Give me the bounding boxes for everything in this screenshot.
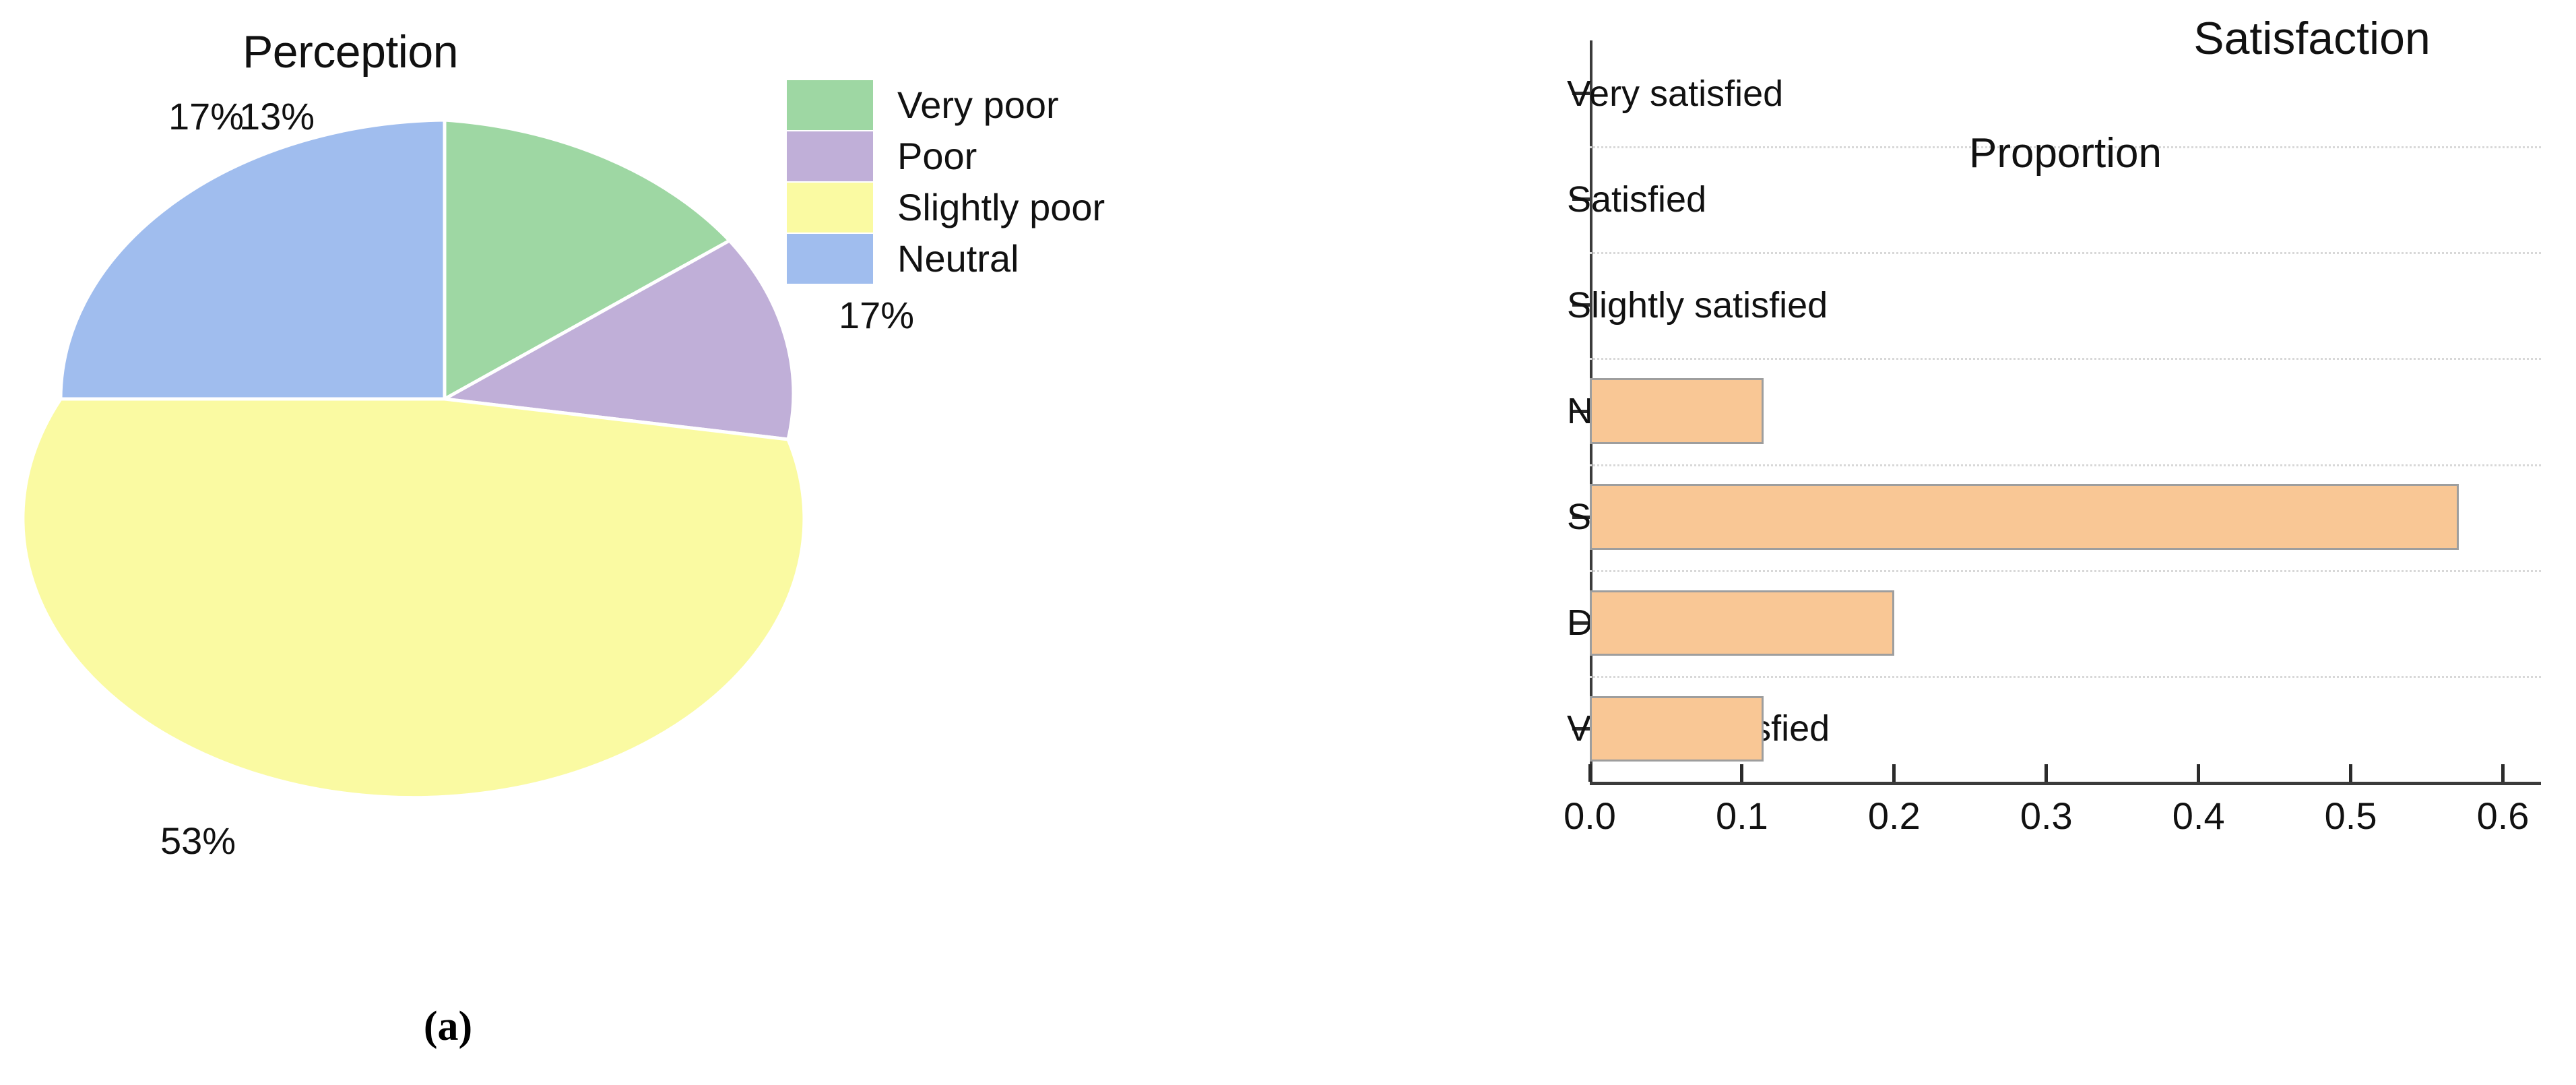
pie-slice-neutral (61, 120, 445, 399)
legend-label-slightly-poor: Slightly poor (897, 189, 1105, 226)
x-axis-title: Proportion (1590, 129, 2541, 177)
x-tick-0 (1588, 764, 1592, 782)
bar-dissatisfied (1590, 590, 1894, 656)
gridline-1 (1590, 252, 2541, 254)
x-axis-tick-label-0.0: 0.0 (1564, 794, 1616, 838)
subfigure-caption-a: (a) (381, 1003, 515, 1051)
x-tick-5 (2349, 764, 2352, 782)
pie-chart-legend: Very poor Poor Slightly poor Neutral (787, 80, 1105, 284)
pie-chart-panel: Perception (0, 0, 1288, 1085)
pie-slice-slightly-poor (23, 399, 804, 798)
legend-swatch-slightly-poor (787, 183, 873, 232)
bar-very-dissatisfied (1590, 696, 1764, 762)
gridline-5 (1590, 676, 2541, 678)
x-axis-tick-label-0.2: 0.2 (1868, 794, 1921, 838)
legend-item-slightly-poor: Slightly poor (787, 182, 1105, 233)
x-tick-2 (1892, 764, 1896, 782)
x-axis-tick-label-0.3: 0.3 (2020, 794, 2073, 838)
pie-label-poor: 17% (839, 293, 914, 337)
pie-label-very-poor: 13% (239, 94, 315, 138)
x-axis-tick-label-0.6: 0.6 (2477, 794, 2530, 838)
pie-chart-stage: 17% 13% 17% 53% (0, 0, 916, 917)
gridline-4 (1590, 570, 2541, 572)
pie-chart-svg (0, 0, 916, 917)
legend-label-neutral: Neutral (897, 240, 1019, 278)
legend-item-poor: Poor (787, 131, 1105, 182)
pie-label-neutral: 17% (168, 94, 244, 138)
bar-slightly-dissatisfied (1590, 484, 2459, 549)
x-axis-tick-label-0.4: 0.4 (2172, 794, 2225, 838)
x-tick-4 (2197, 764, 2200, 782)
pie-label-slightly-poor: 53% (160, 819, 236, 863)
bar-chart-plot-area: Very satisfiedSatisfiedSlightly satisfie… (1590, 40, 2541, 782)
legend-swatch-very-poor (787, 80, 873, 130)
x-tick-3 (2044, 764, 2048, 782)
legend-item-neutral: Neutral (787, 233, 1105, 284)
x-axis-line (1590, 782, 2541, 785)
legend-swatch-neutral (787, 234, 873, 284)
legend-label-very-poor: Very poor (897, 86, 1059, 124)
gridline-2 (1590, 358, 2541, 360)
x-tick-6 (2501, 764, 2505, 782)
legend-swatch-poor (787, 131, 873, 181)
bar-chart-panel: Satisfaction Very satisfiedSatisfiedSlig… (1288, 0, 2576, 1085)
x-tick-1 (1740, 764, 1743, 782)
legend-label-poor: Poor (897, 137, 977, 175)
legend-item-very-poor: Very poor (787, 80, 1105, 131)
figure-root: Perception (0, 0, 2576, 1085)
bar-neutral (1590, 378, 1764, 443)
x-axis-tick-label-0.1: 0.1 (1716, 794, 1768, 838)
x-axis-tick-label-0.5: 0.5 (2325, 794, 2377, 838)
gridline-3 (1590, 464, 2541, 466)
